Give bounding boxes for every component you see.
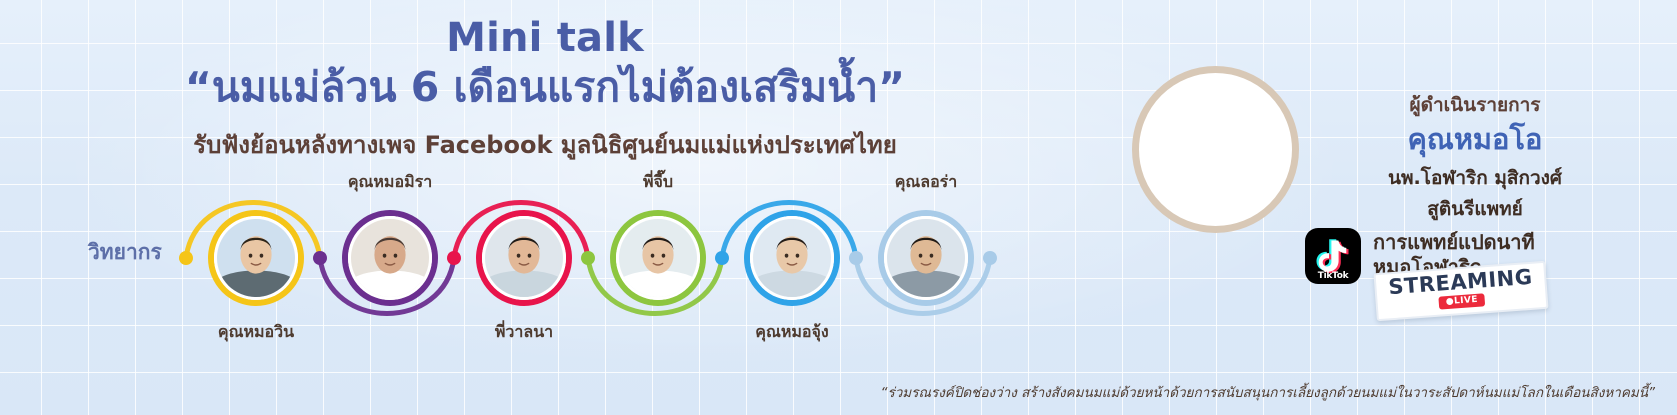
footer-tagline: “ร่วมรณรงค์ปิดช่องว่าง สร้างสังคมนมแม่ด้…: [880, 381, 1655, 403]
host-avatar: [1132, 66, 1299, 233]
speaker-name: คุณหมอจุ้ง: [677, 320, 907, 345]
speakers-rail: วิทยากร: [0, 170, 1090, 345]
speaker-name: คุณลอร่า: [811, 170, 1041, 195]
streaming-label: STREAMING: [1388, 267, 1533, 299]
speaker-avatar-ring: [744, 210, 840, 306]
speaker-portrait: [482, 216, 566, 300]
host-specialty: สูตินรีแพทย์: [1310, 194, 1640, 224]
speaker-portrait: [750, 216, 834, 300]
speaker-avatar: [342, 210, 438, 306]
live-badge: ●LIVE: [1438, 293, 1485, 309]
speaker-avatar: [744, 210, 840, 306]
speaker-portrait: [616, 216, 700, 300]
speaker-avatar: [208, 210, 304, 306]
speaker-avatar-ring: [476, 210, 572, 306]
speaker-portrait: [214, 216, 298, 300]
speaker-name: พี่วาลนา: [409, 320, 639, 345]
tiktok-icon[interactable]: TikTok: [1305, 228, 1361, 284]
speaker-avatar: [476, 210, 572, 306]
speaker-name: พี่จี๊บ: [543, 170, 773, 195]
host-name: คุณหมอโอ: [1310, 124, 1640, 156]
speaker-avatar: [878, 210, 974, 306]
speaker-avatar-ring: [342, 210, 438, 306]
tiktok-wordmark: TikTok: [1305, 271, 1361, 281]
speaker-name: คุณหมอมิรา: [275, 170, 505, 195]
promo-banner: Mini talk “นมแม่ล้วน 6 เดือนแรกไม่ต้องเส…: [0, 0, 1677, 415]
speaker-avatar-ring: [610, 210, 706, 306]
speaker-name: คุณหมอวิน: [141, 320, 371, 345]
headline-text: “นมแม่ล้วน 6 เดือนแรกไม่ต้องเสริมน้ำ”: [0, 63, 1090, 111]
speaker-avatar-ring: [208, 210, 304, 306]
speaker-portrait: [884, 216, 968, 300]
host-info: ผู้ดำเนินรายการ คุณหมอโอ นพ.โอฬาริก มุสิ…: [1310, 90, 1640, 224]
header-block: Mini talk “นมแม่ล้วน 6 เดือนแรกไม่ต้องเส…: [0, 16, 1090, 164]
host-role-label: ผู้ดำเนินรายการ: [1310, 90, 1640, 120]
channel-line-1: การแพทย์แปดนาที: [1373, 230, 1535, 255]
speaker-avatar-ring: [878, 210, 974, 306]
subtitle-text: รับฟังย้อนหลังทางเพจ Facebook มูลนิธิศูน…: [0, 125, 1090, 164]
speaker-avatar: [610, 210, 706, 306]
page-title: Mini talk: [0, 16, 1090, 61]
host-portrait-image: [1139, 73, 1292, 226]
speaker-portrait: [348, 216, 432, 300]
host-fullname: นพ.โอฬาริก มุสิกวงศ์: [1310, 163, 1640, 193]
